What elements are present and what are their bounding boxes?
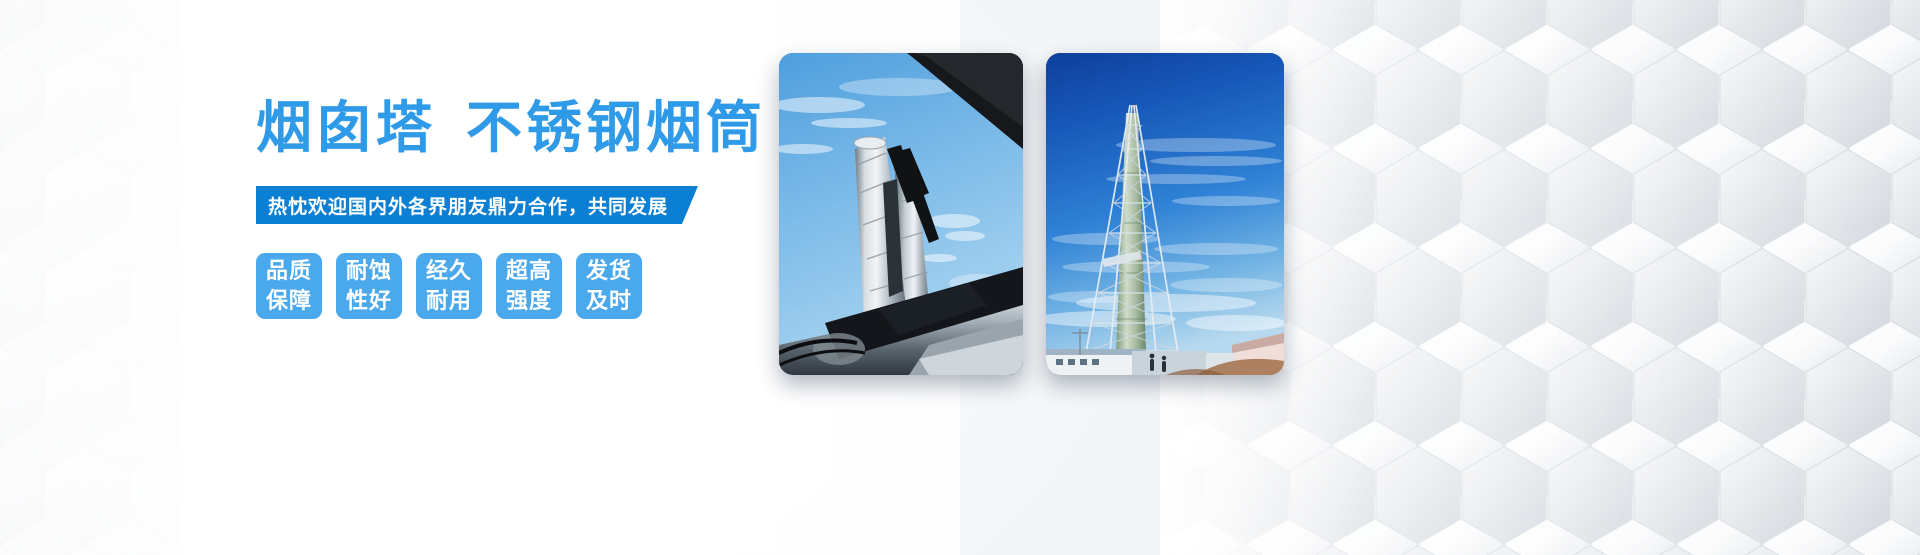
background-fade-left [0, 0, 260, 555]
badge-line-1: 耐蚀 [346, 256, 392, 286]
feature-badge[interactable]: 经久 耐用 [416, 253, 482, 319]
badge-line-2: 保障 [266, 286, 312, 316]
badge-line-2: 强度 [506, 286, 552, 316]
welcome-ribbon: 热忱欢迎国内外各界朋友鼎力合作，共同发展 [256, 186, 698, 224]
product-photo-lattice-tower[interactable] [1046, 53, 1284, 375]
badge-line-1: 超高 [506, 256, 552, 286]
stainless-chimney-illustration [779, 53, 1023, 375]
title-part-2: 不锈钢烟筒 [466, 96, 766, 159]
badge-line-2: 性好 [346, 286, 392, 316]
feature-badge[interactable]: 耐蚀 性好 [336, 253, 402, 319]
feature-badge[interactable]: 超高 强度 [496, 253, 562, 319]
lattice-tower-illustration [1046, 53, 1284, 375]
badge-line-1: 品质 [266, 256, 312, 286]
product-photo-stainless-chimney[interactable] [779, 53, 1023, 375]
feature-badge[interactable]: 发货 及时 [576, 253, 642, 319]
promo-banner: 烟囱塔不锈钢烟筒 热忱欢迎国内外各界朋友鼎力合作，共同发展 品质 保障 耐蚀 性… [0, 0, 1920, 555]
ribbon-text: 热忱欢迎国内外各界朋友鼎力合作，共同发展 [268, 192, 668, 219]
badge-line-2: 及时 [586, 286, 632, 316]
badge-line-1: 经久 [426, 256, 472, 286]
title-part-1: 烟囱塔 [256, 96, 436, 159]
page-title: 烟囱塔不锈钢烟筒 [256, 96, 766, 160]
badge-line-1: 发货 [586, 256, 632, 286]
feature-badge[interactable]: 品质 保障 [256, 253, 322, 319]
feature-badge-list: 品质 保障 耐蚀 性好 经久 耐用 超高 强度 发货 及时 [256, 253, 642, 319]
badge-line-2: 耐用 [426, 286, 472, 316]
